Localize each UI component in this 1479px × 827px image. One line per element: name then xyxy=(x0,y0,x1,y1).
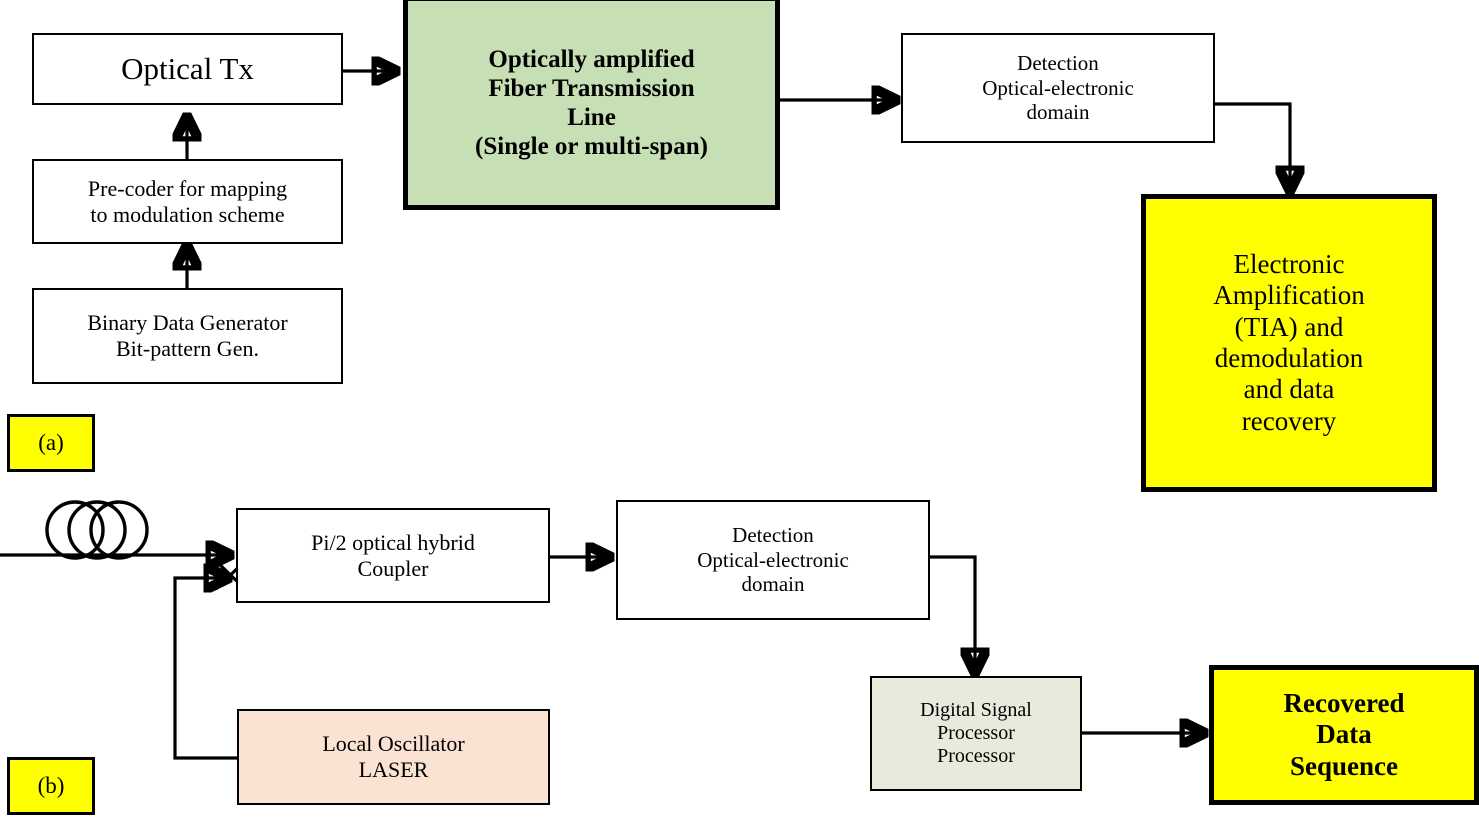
block-optical-tx[interactable]: Optical Tx xyxy=(32,33,343,105)
arrow-detection-to-amplification xyxy=(1215,104,1290,190)
block-detection-optical-electronic-2[interactable]: Detection Optical-electronic domain xyxy=(616,500,930,620)
fiber-coil-circle-1 xyxy=(47,502,103,558)
block-fiber-transmission-line[interactable]: Optically amplified Fiber Transmission L… xyxy=(403,0,780,210)
block-recovered-data-sequence[interactable]: Recovered Data Sequence xyxy=(1209,665,1479,805)
block-pre-coder[interactable]: Pre-coder for mapping to modulation sche… xyxy=(32,159,343,244)
block-binary-data-generator[interactable]: Binary Data Generator Bit-pattern Gen. xyxy=(32,288,343,384)
fiber-coil-circle-3 xyxy=(91,502,147,558)
block-local-oscillator-laser[interactable]: Local Oscillator LASER xyxy=(237,709,550,805)
arrow-detection2-to-dsp xyxy=(930,557,975,672)
block-digital-signal-processor[interactable]: Digital Signal Processor Processor xyxy=(870,676,1082,791)
diagram-canvas: Optical Tx Pre-coder for mapping to modu… xyxy=(0,0,1479,827)
wire-lo-to-coupler xyxy=(175,578,237,758)
block-detection-optical-electronic[interactable]: Detection Optical-electronic domain xyxy=(901,33,1215,143)
fiber-coil-circle-2 xyxy=(69,502,125,558)
panel-label-b-text: (b) xyxy=(38,773,65,799)
panel-label-a: (a) xyxy=(7,414,95,472)
block-electronic-amplification[interactable]: Electronic Amplification (TIA) and demod… xyxy=(1141,194,1437,492)
panel-label-b: (b) xyxy=(7,757,95,815)
panel-label-a-text: (a) xyxy=(38,430,64,456)
block-optical-hybrid-coupler[interactable]: Pi/2 optical hybrid Coupler xyxy=(236,508,550,603)
